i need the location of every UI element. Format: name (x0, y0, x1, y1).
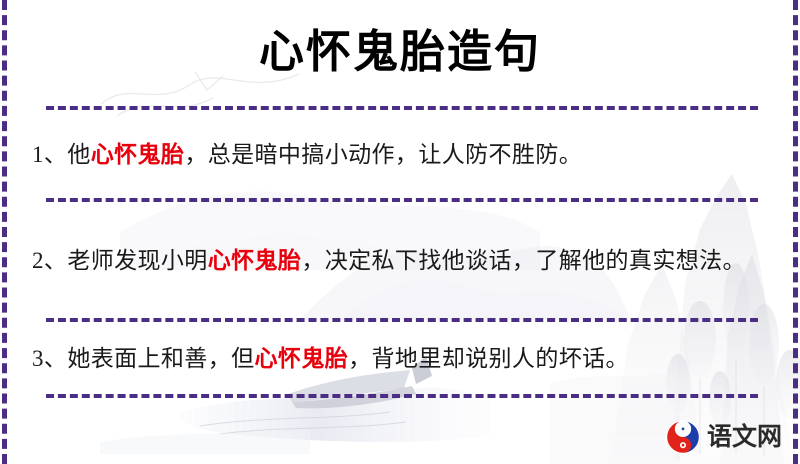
sentence-part-plain: ，总是暗中搞小动作，让人防不胜防。 (184, 142, 582, 167)
sentence-part-plain: 老师发现小明 (67, 248, 207, 273)
taiji-yinyang-icon (666, 420, 700, 454)
sentence-index-3: 3、 (32, 346, 67, 371)
sentence-index-1: 1、 (32, 142, 67, 167)
sentence-text-3: 3、她表面上和善，但心怀鬼胎，背地里却说别人的坏话。 (32, 340, 629, 377)
sentence-text-2: 2、老师发现小明心怀鬼胎，决定私下找他谈话，了解他的真实想法。 (32, 242, 746, 279)
sentence-row: 1、他心怀鬼胎，总是暗中搞小动作，让人防不胜防。 (18, 110, 782, 198)
sentence-part-plain: 他 (67, 142, 90, 167)
sentence-part-plain: 她表面上和善，但 (67, 346, 254, 371)
left-dashed-border (2, 0, 7, 464)
sentence-row: 3、她表面上和善，但心怀鬼胎，背地里却说别人的坏话。 (18, 322, 782, 394)
keyword-highlight: 心怀鬼胎 (208, 248, 302, 273)
sentence-text-1: 1、他心怀鬼胎，总是暗中搞小动作，让人防不胜防。 (32, 136, 582, 173)
sentence-index-2: 2、 (32, 248, 67, 273)
keyword-highlight: 心怀鬼胎 (91, 142, 185, 167)
site-logo[interactable]: 语文网 (666, 420, 782, 454)
slide-canvas: 心怀鬼胎造句 1、他心怀鬼胎，总是暗中搞小动作，让人防不胜防。 2、老师发现小明… (0, 0, 800, 464)
sentence-part-plain: ，背地里却说别人的坏话。 (348, 346, 629, 371)
right-dashed-border (793, 0, 798, 464)
title-block: 心怀鬼胎造句 (18, 0, 782, 106)
keyword-highlight: 心怀鬼胎 (255, 346, 349, 371)
logo-text: 语文网 (707, 425, 782, 450)
sentence-part-plain: ，决定私下找他谈话，了解他的真实想法。 (301, 248, 746, 273)
content-area: 心怀鬼胎造句 1、他心怀鬼胎，总是暗中搞小动作，让人防不胜防。 2、老师发现小明… (0, 0, 800, 464)
divider-bottom (46, 394, 758, 398)
sentence-row: 2、老师发现小明心怀鬼胎，决定私下找他谈话，了解他的真实想法。 (18, 202, 782, 318)
page-title: 心怀鬼胎造句 (259, 29, 541, 76)
